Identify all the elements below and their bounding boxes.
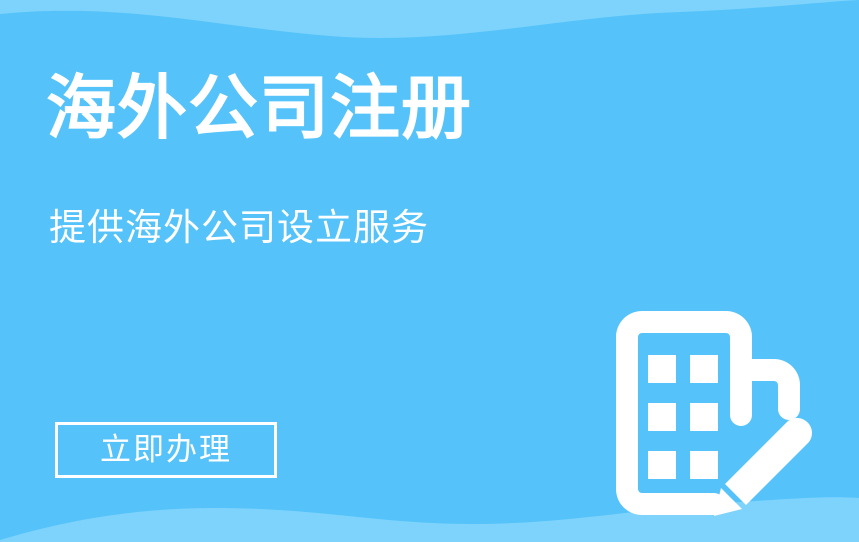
building-registration-pencil-icon — [608, 303, 820, 521]
wave-top-decoration — [0, 0, 859, 60]
overseas-company-registration-banner: 海外公司注册 提供海外公司设立服务 立即办理 — [0, 0, 859, 542]
page-title: 海外公司注册 — [46, 70, 472, 147]
apply-now-button[interactable]: 立即办理 — [55, 422, 277, 478]
page-subtitle: 提供海外公司设立服务 — [49, 206, 429, 250]
